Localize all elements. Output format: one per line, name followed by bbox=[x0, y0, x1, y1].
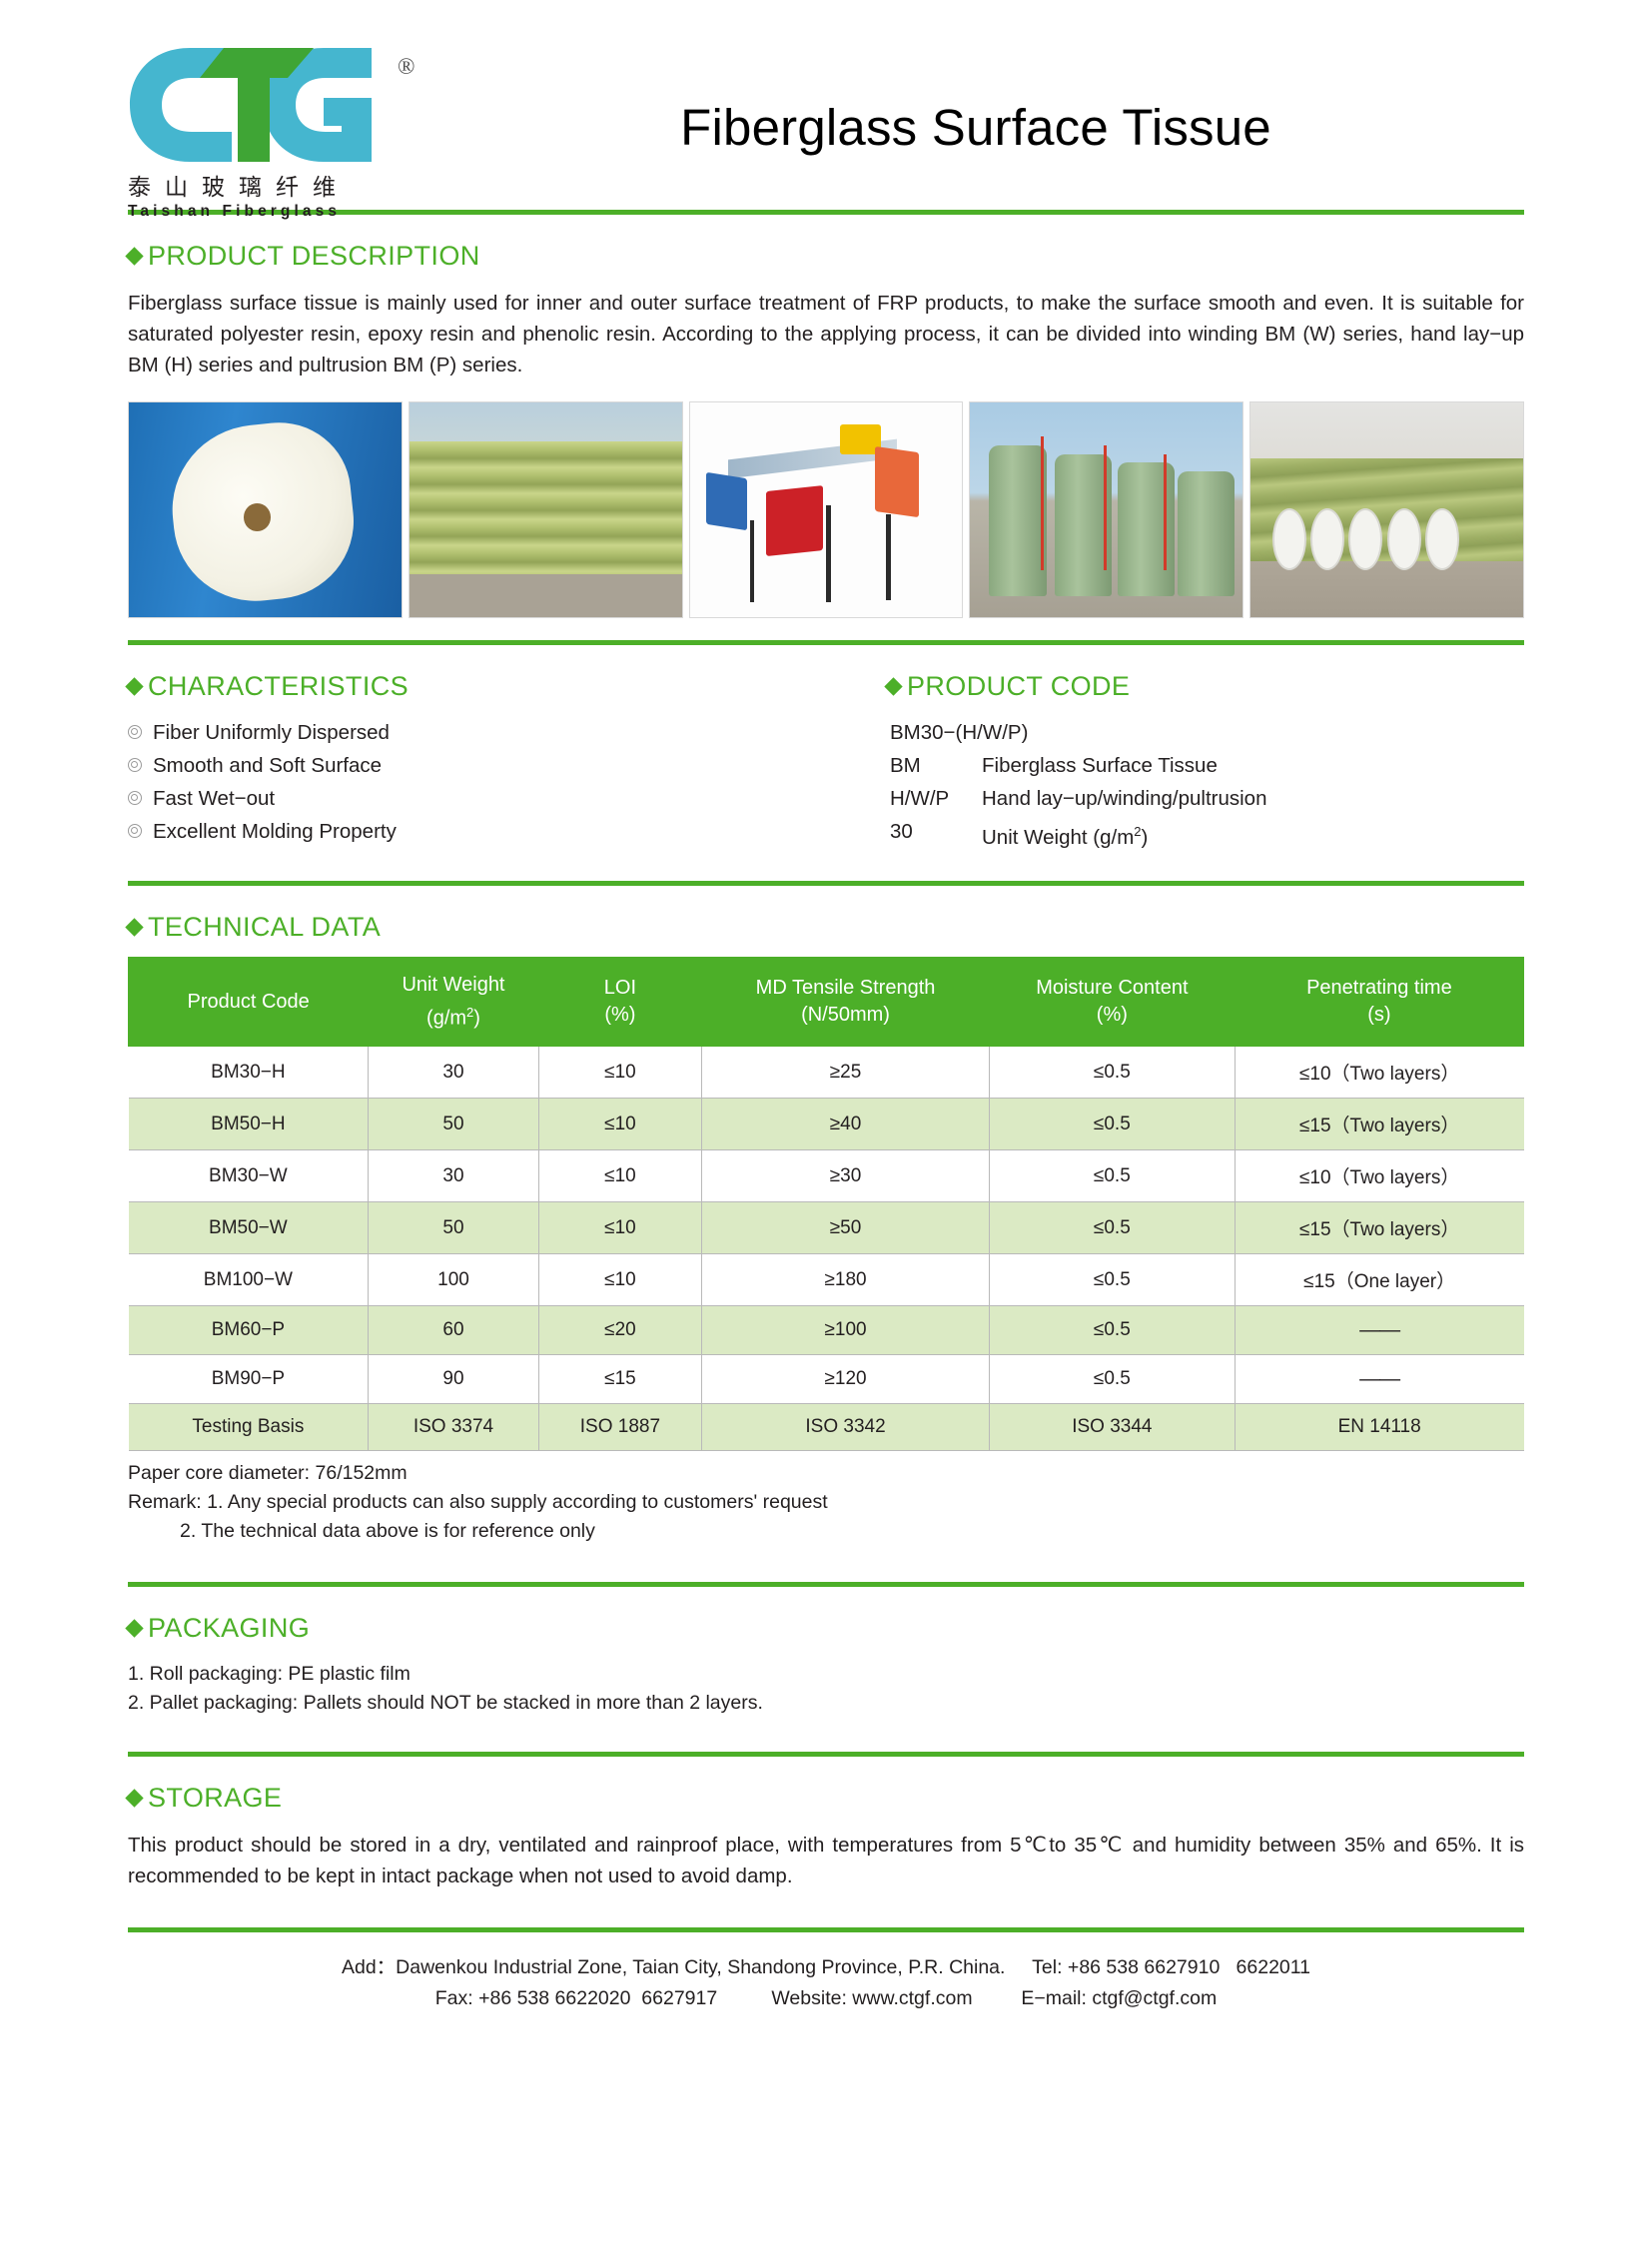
column-header-penetrating-time: Penetrating time (s) bbox=[1235, 957, 1523, 1047]
product-code-example: BM30−(H/W/P) bbox=[890, 716, 1524, 749]
photo-green-pipes-outdoor bbox=[409, 401, 683, 618]
cell-loi: ≤10 bbox=[538, 1202, 701, 1254]
product-code-value: Fiberglass Surface Tissue bbox=[982, 749, 1218, 782]
technical-data-notes: Paper core diameter: 76/152mm Remark: 1.… bbox=[128, 1459, 1524, 1546]
cell-md-tensile: ≥180 bbox=[702, 1254, 990, 1306]
column-header-product-code: Product Code bbox=[129, 957, 369, 1047]
table-row: BM30−H 30 ≤10 ≥25 ≤0.5 ≤10（Two layers） bbox=[129, 1047, 1524, 1099]
product-code-row: 30 Unit Weight (g/m2) bbox=[890, 815, 1524, 854]
product-code-example-label: BM30−(H/W/P) bbox=[890, 716, 1028, 749]
diamond-bullet-icon bbox=[125, 1620, 143, 1638]
photo-frp-furniture bbox=[689, 401, 964, 618]
cell-moisture: ≤0.5 bbox=[989, 1202, 1235, 1254]
cell-unit-weight: 100 bbox=[369, 1254, 538, 1306]
list-item-label: Fast Wet−out bbox=[153, 782, 275, 815]
table-row: BM100−W 100 ≤10 ≥180 ≤0.5 ≤15（One layer） bbox=[129, 1254, 1524, 1306]
heading-text: CHARACTERISTICS bbox=[148, 671, 409, 702]
footer-address-tel: Add：Dawenkou Industrial Zone, Taian City… bbox=[128, 1952, 1524, 1983]
page-title: Fiberglass Surface Tissue bbox=[680, 98, 1271, 157]
diamond-bullet-icon bbox=[884, 677, 902, 695]
datasheet-page: ® 泰山玻璃纤维 Taishan Fiberglass Fiberglass S… bbox=[0, 0, 1652, 2242]
cell-moisture: ≤0.5 bbox=[989, 1355, 1235, 1404]
cell-testing-basis-label: Testing Basis bbox=[129, 1404, 369, 1451]
storage-paragraph: This product should be stored in a dry, … bbox=[128, 1830, 1524, 1891]
cell-loi: ≤10 bbox=[538, 1150, 701, 1202]
product-code-key: 30 bbox=[890, 815, 982, 854]
column-header-unit-weight: Unit Weight (g/m2) bbox=[369, 957, 538, 1047]
note-remark-1: Remark: 1. Any special products can also… bbox=[128, 1488, 1524, 1517]
cell-testing-basis-unit-weight: ISO 3374 bbox=[369, 1404, 538, 1451]
note-paper-core: Paper core diameter: 76/152mm bbox=[128, 1459, 1524, 1488]
cell-product-code: BM50−H bbox=[129, 1099, 369, 1150]
diamond-bullet-icon bbox=[125, 247, 143, 265]
cell-testing-basis-moisture: ISO 3344 bbox=[989, 1404, 1235, 1451]
cell-product-code: BM60−P bbox=[129, 1306, 369, 1355]
cell-loi: ≤10 bbox=[538, 1254, 701, 1306]
table-row-testing-basis: Testing Basis ISO 3374 ISO 1887 ISO 3342… bbox=[129, 1404, 1524, 1451]
product-code-value-text: Unit Weight (g/m bbox=[982, 826, 1134, 849]
cell-loi: ≤10 bbox=[538, 1047, 701, 1099]
list-item: Excellent Molding Property bbox=[128, 815, 887, 848]
cell-loi: ≤10 bbox=[538, 1099, 701, 1150]
cell-penetrating: ≤15（Two layers） bbox=[1235, 1099, 1523, 1150]
product-description-paragraph: Fiberglass surface tissue is mainly used… bbox=[128, 288, 1524, 380]
heading-storage: STORAGE bbox=[128, 1783, 1524, 1814]
column-header-md-tensile-strength: MD Tensile Strength (N/50mm) bbox=[702, 957, 990, 1047]
product-code-key: BM bbox=[890, 749, 982, 782]
column-characteristics: CHARACTERISTICS Fiber Uniformly Disperse… bbox=[128, 671, 887, 854]
double-circle-bullet-icon bbox=[128, 758, 142, 772]
cell-moisture: ≤0.5 bbox=[989, 1099, 1235, 1150]
cell-unit-weight: 60 bbox=[369, 1306, 538, 1355]
section-storage: STORAGE This product should be stored in… bbox=[128, 1757, 1524, 1891]
footer-fax-website-email: Fax: +86 538 6622020 6627917 Website: ww… bbox=[128, 1983, 1524, 2014]
photo-frp-tanks bbox=[969, 401, 1243, 618]
diamond-bullet-icon bbox=[125, 918, 143, 936]
photo-frp-pipes-warehouse bbox=[1249, 401, 1524, 618]
registered-trademark-icon: ® bbox=[398, 54, 414, 80]
table-row: BM50−H 50 ≤10 ≥40 ≤0.5 ≤15（Two layers） bbox=[129, 1099, 1524, 1150]
heading-text: TECHNICAL DATA bbox=[148, 912, 381, 943]
cell-moisture: ≤0.5 bbox=[989, 1047, 1235, 1099]
cell-product-code: BM30−H bbox=[129, 1047, 369, 1099]
list-item: Fast Wet−out bbox=[128, 782, 887, 815]
double-circle-bullet-icon bbox=[128, 824, 142, 838]
cell-testing-basis-loi: ISO 1887 bbox=[538, 1404, 701, 1451]
table-row: BM50−W 50 ≤10 ≥50 ≤0.5 ≤15（Two layers） bbox=[129, 1202, 1524, 1254]
heading-product-code: PRODUCT CODE bbox=[887, 671, 1524, 702]
column-product-code: PRODUCT CODE BM30−(H/W/P) BM Fiberglass … bbox=[887, 671, 1524, 854]
section-packaging: PACKAGING 1. Roll packaging: PE plastic … bbox=[128, 1587, 1524, 1718]
list-item-label: Smooth and Soft Surface bbox=[153, 749, 382, 782]
heading-product-description: PRODUCT DESCRIPTION bbox=[128, 241, 1524, 272]
cell-moisture: ≤0.5 bbox=[989, 1254, 1235, 1306]
heading-text: PRODUCT CODE bbox=[907, 671, 1130, 702]
list-item: Fiber Uniformly Dispersed bbox=[128, 716, 887, 749]
double-circle-bullet-icon bbox=[128, 725, 142, 739]
diamond-bullet-icon bbox=[125, 677, 143, 695]
column-header-moisture-content: Moisture Content (%) bbox=[989, 957, 1235, 1047]
cell-penetrating: ≤10（Two layers） bbox=[1235, 1047, 1523, 1099]
cell-penetrating: ≤15（One layer） bbox=[1235, 1254, 1523, 1306]
characteristics-list: Fiber Uniformly Dispersed Smooth and Sof… bbox=[128, 716, 887, 848]
cell-testing-basis-md-tensile: ISO 3342 bbox=[702, 1404, 990, 1451]
technical-data-table: Product Code Unit Weight (g/m2) LOI (%) … bbox=[128, 957, 1524, 1452]
page-footer: Add：Dawenkou Industrial Zone, Taian City… bbox=[128, 1932, 1524, 2014]
heading-text: STORAGE bbox=[148, 1783, 282, 1814]
table-row: BM30−W 30 ≤10 ≥30 ≤0.5 ≤10（Two layers） bbox=[129, 1150, 1524, 1202]
cell-penetrating: ≤10（Two layers） bbox=[1235, 1150, 1523, 1202]
section-product-description: PRODUCT DESCRIPTION Fiberglass surface t… bbox=[128, 215, 1524, 618]
section-technical-data: TECHNICAL DATA Product Code Unit Weight … bbox=[128, 886, 1524, 1547]
product-photo-strip bbox=[128, 401, 1524, 618]
heading-technical-data: TECHNICAL DATA bbox=[128, 912, 1524, 943]
company-logo: ® 泰山玻璃纤维 Taishan Fiberglass bbox=[128, 46, 427, 221]
packaging-line: 1. Roll packaging: PE plastic film bbox=[128, 1660, 1524, 1689]
cell-product-code: BM50−W bbox=[129, 1202, 369, 1254]
packaging-lines: 1. Roll packaging: PE plastic film 2. Pa… bbox=[128, 1660, 1524, 1718]
cell-testing-basis-penetrating: EN 14118 bbox=[1235, 1404, 1523, 1451]
page-header: ® 泰山玻璃纤维 Taishan Fiberglass Fiberglass S… bbox=[128, 0, 1524, 210]
ctg-logomark-icon bbox=[128, 46, 390, 164]
cell-penetrating: ≤15（Two layers） bbox=[1235, 1202, 1523, 1254]
cell-loi: ≤15 bbox=[538, 1355, 701, 1404]
list-item: Smooth and Soft Surface bbox=[128, 749, 887, 782]
packaging-line: 2. Pallet packaging: Pallets should NOT … bbox=[128, 1689, 1524, 1718]
cell-moisture: ≤0.5 bbox=[989, 1150, 1235, 1202]
cell-moisture: ≤0.5 bbox=[989, 1306, 1235, 1355]
product-code-key: H/W/P bbox=[890, 782, 982, 815]
heading-text: PRODUCT DESCRIPTION bbox=[148, 241, 480, 272]
table-header-row: Product Code Unit Weight (g/m2) LOI (%) … bbox=[129, 957, 1524, 1047]
product-code-value: Hand lay−up/winding/pultrusion bbox=[982, 782, 1266, 815]
cell-penetrating: —— bbox=[1235, 1355, 1523, 1404]
cell-product-code: BM100−W bbox=[129, 1254, 369, 1306]
cell-unit-weight: 90 bbox=[369, 1355, 538, 1404]
note-remark-2: 2. The technical data above is for refer… bbox=[128, 1517, 1524, 1546]
cell-product-code: BM30−W bbox=[129, 1150, 369, 1202]
double-circle-bullet-icon bbox=[128, 791, 142, 805]
heading-characteristics: CHARACTERISTICS bbox=[128, 671, 887, 702]
photo-tissue-roll bbox=[128, 401, 403, 618]
title-area: Fiberglass Surface Tissue bbox=[427, 46, 1524, 157]
cell-unit-weight: 30 bbox=[369, 1047, 538, 1099]
logo-chinese-name: 泰山玻璃纤维 bbox=[128, 168, 427, 202]
cell-unit-weight: 30 bbox=[369, 1150, 538, 1202]
cell-penetrating: —— bbox=[1235, 1306, 1523, 1355]
cell-unit-weight: 50 bbox=[369, 1099, 538, 1150]
cell-md-tensile: ≥25 bbox=[702, 1047, 990, 1099]
cell-md-tensile: ≥100 bbox=[702, 1306, 990, 1355]
superscript: 2 bbox=[1134, 824, 1141, 839]
cell-md-tensile: ≥120 bbox=[702, 1355, 990, 1404]
logo-english-name: Taishan Fiberglass bbox=[128, 203, 427, 221]
product-code-value: Unit Weight (g/m2) bbox=[982, 815, 1148, 854]
column-header-loi: LOI (%) bbox=[538, 957, 701, 1047]
cell-product-code: BM90−P bbox=[129, 1355, 369, 1404]
list-item-label: Excellent Molding Property bbox=[153, 815, 397, 848]
diamond-bullet-icon bbox=[125, 1790, 143, 1808]
product-code-row: H/W/P Hand lay−up/winding/pultrusion bbox=[890, 782, 1524, 815]
table-row: BM90−P 90 ≤15 ≥120 ≤0.5 —— bbox=[129, 1355, 1524, 1404]
product-code-list: BM30−(H/W/P) BM Fiberglass Surface Tissu… bbox=[887, 716, 1524, 854]
heading-packaging: PACKAGING bbox=[128, 1613, 1524, 1644]
cell-loi: ≤20 bbox=[538, 1306, 701, 1355]
product-code-value-tail: ) bbox=[1142, 826, 1149, 849]
heading-text: PACKAGING bbox=[148, 1613, 310, 1644]
table-row: BM60−P 60 ≤20 ≥100 ≤0.5 —— bbox=[129, 1306, 1524, 1355]
section-characteristics-and-code: CHARACTERISTICS Fiber Uniformly Disperse… bbox=[128, 645, 1524, 854]
list-item-label: Fiber Uniformly Dispersed bbox=[153, 716, 390, 749]
cell-md-tensile: ≥50 bbox=[702, 1202, 990, 1254]
cell-md-tensile: ≥40 bbox=[702, 1099, 990, 1150]
cell-unit-weight: 50 bbox=[369, 1202, 538, 1254]
cell-md-tensile: ≥30 bbox=[702, 1150, 990, 1202]
product-code-row: BM Fiberglass Surface Tissue bbox=[890, 749, 1524, 782]
